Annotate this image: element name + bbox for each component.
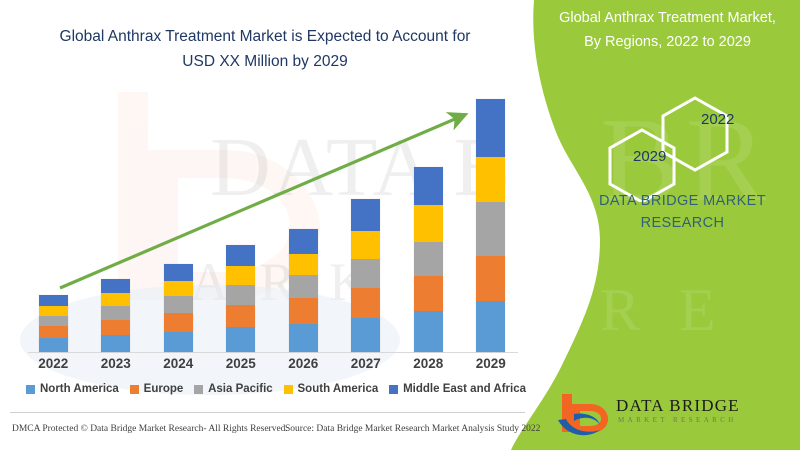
x-axis-tick-label: 2028 xyxy=(397,356,460,371)
bar-segment xyxy=(476,157,505,202)
legend-item[interactable]: Asia Pacific xyxy=(194,383,273,395)
footer-source: Source: Data Bridge Market Research Mark… xyxy=(285,424,540,434)
bar-segment xyxy=(39,295,68,306)
panel-brand-text: DATA BRIDGE MARKET RESEARCH xyxy=(575,190,790,234)
stacked-bar[interactable] xyxy=(39,295,68,352)
hexagon-outlines xyxy=(600,92,790,202)
footer-copyright: DMCA Protected © Data Bridge Market Rese… xyxy=(12,424,288,434)
stacked-bar[interactable] xyxy=(476,99,505,352)
stacked-bar-chart xyxy=(22,95,522,353)
bar-segment xyxy=(414,205,443,241)
bar-slot xyxy=(147,95,210,352)
bar-segment xyxy=(351,231,380,259)
x-axis-tick-label: 2025 xyxy=(210,356,273,371)
bar-segment xyxy=(101,279,130,293)
bar-segment xyxy=(289,275,318,299)
data-bridge-logo: DATA BRIDGE MARKET RESEARCH xyxy=(556,392,791,440)
x-axis-labels: 20222023202420252026202720282029 xyxy=(22,356,522,371)
legend-swatch-icon xyxy=(26,385,35,394)
bar-segment xyxy=(414,276,443,311)
bar-segment xyxy=(476,202,505,256)
legend-swatch-icon xyxy=(284,385,293,394)
bar-segment xyxy=(164,313,193,331)
legend-label: South America xyxy=(298,383,379,395)
bar-segment xyxy=(226,285,255,305)
bar-slot xyxy=(85,95,148,352)
legend-label: Asia Pacific xyxy=(208,383,273,395)
bar-segment xyxy=(351,199,380,231)
stacked-bar[interactable] xyxy=(226,245,255,352)
svg-text:R E: R E xyxy=(600,277,728,343)
bar-slot xyxy=(460,95,523,352)
x-axis-tick-label: 2023 xyxy=(85,356,148,371)
bar-segment xyxy=(414,242,443,276)
footer-divider xyxy=(10,412,525,413)
bar-segment xyxy=(164,281,193,296)
panel-title-line-1: Global Anthrax Treatment Market, xyxy=(540,6,795,30)
stacked-bar[interactable] xyxy=(101,279,130,352)
bar-segment xyxy=(39,338,68,352)
bar-segment xyxy=(164,296,193,313)
brand-line-2: RESEARCH xyxy=(575,212,790,234)
bar-segment xyxy=(289,229,318,254)
stacked-bar[interactable] xyxy=(414,167,443,352)
panel-title-line-2: By Regions, 2022 to 2029 xyxy=(540,30,795,54)
bar-segment xyxy=(101,306,130,320)
x-axis-tick-label: 2024 xyxy=(147,356,210,371)
stacked-bar[interactable] xyxy=(289,229,318,352)
stacked-bar[interactable] xyxy=(164,264,193,352)
x-axis-line xyxy=(28,352,518,353)
bar-segment xyxy=(39,306,68,316)
hexagon-2029-label: 2029 xyxy=(633,148,666,165)
hexagon-2022-label: 2022 xyxy=(701,111,734,128)
bar-segment xyxy=(414,311,443,352)
bar-segment xyxy=(226,245,255,266)
bar-segment xyxy=(101,335,130,352)
chart-legend: North AmericaEuropeAsia PacificSouth Ame… xyxy=(26,383,526,395)
legend-item[interactable]: North America xyxy=(26,383,119,395)
legend-swatch-icon xyxy=(130,385,139,394)
legend-label: North America xyxy=(40,383,119,395)
bar-segment xyxy=(476,99,505,157)
x-axis-tick-label: 2022 xyxy=(22,356,85,371)
infographic-canvas: BR R E DATA B A R K Global Anthrax Treat… xyxy=(0,0,800,450)
legend-label: Europe xyxy=(144,383,184,395)
bar-group xyxy=(22,95,522,352)
bar-slot xyxy=(210,95,273,352)
bar-segment xyxy=(289,324,318,352)
panel-title: Global Anthrax Treatment Market, By Regi… xyxy=(540,6,795,54)
legend-swatch-icon xyxy=(194,385,203,394)
bar-segment xyxy=(289,254,318,275)
legend-swatch-icon xyxy=(389,385,398,394)
bar-segment xyxy=(39,316,68,327)
bar-segment xyxy=(476,256,505,301)
logo-mark-icon xyxy=(556,392,614,438)
bar-segment xyxy=(101,320,130,335)
bar-segment xyxy=(39,326,68,338)
bar-segment xyxy=(226,305,255,327)
bar-slot xyxy=(22,95,85,352)
bar-segment xyxy=(414,167,443,206)
bar-segment xyxy=(164,264,193,281)
chart-title-line-1: Global Anthrax Treatment Market is Expec… xyxy=(30,24,500,49)
bar-segment xyxy=(351,259,380,288)
x-axis-tick-label: 2026 xyxy=(272,356,335,371)
bar-slot xyxy=(397,95,460,352)
bar-slot xyxy=(335,95,398,352)
bar-segment xyxy=(476,301,505,352)
legend-item[interactable]: South America xyxy=(284,383,379,395)
bar-segment xyxy=(351,288,380,318)
bar-segment xyxy=(351,318,380,352)
legend-label: Middle East and Africa xyxy=(403,383,526,395)
bar-segment xyxy=(164,332,193,352)
stacked-bar[interactable] xyxy=(351,199,380,352)
x-axis-tick-label: 2027 xyxy=(335,356,398,371)
logo-wordmark: DATA BRIDGE xyxy=(616,396,740,416)
bar-segment xyxy=(226,266,255,284)
bar-segment xyxy=(289,298,318,324)
chart-title: Global Anthrax Treatment Market is Expec… xyxy=(30,24,500,74)
hexagon-badges: 2029 2022 xyxy=(600,92,790,202)
legend-item[interactable]: Middle East and Africa xyxy=(389,383,526,395)
x-axis-tick-label: 2029 xyxy=(460,356,523,371)
chart-title-line-2: USD XX Million by 2029 xyxy=(30,49,500,74)
legend-item[interactable]: Europe xyxy=(130,383,184,395)
bar-segment xyxy=(101,293,130,306)
logo-subtitle: MARKET RESEARCH xyxy=(618,416,737,424)
brand-line-1: DATA BRIDGE MARKET xyxy=(575,190,790,212)
bar-segment xyxy=(226,327,255,352)
bar-slot xyxy=(272,95,335,352)
